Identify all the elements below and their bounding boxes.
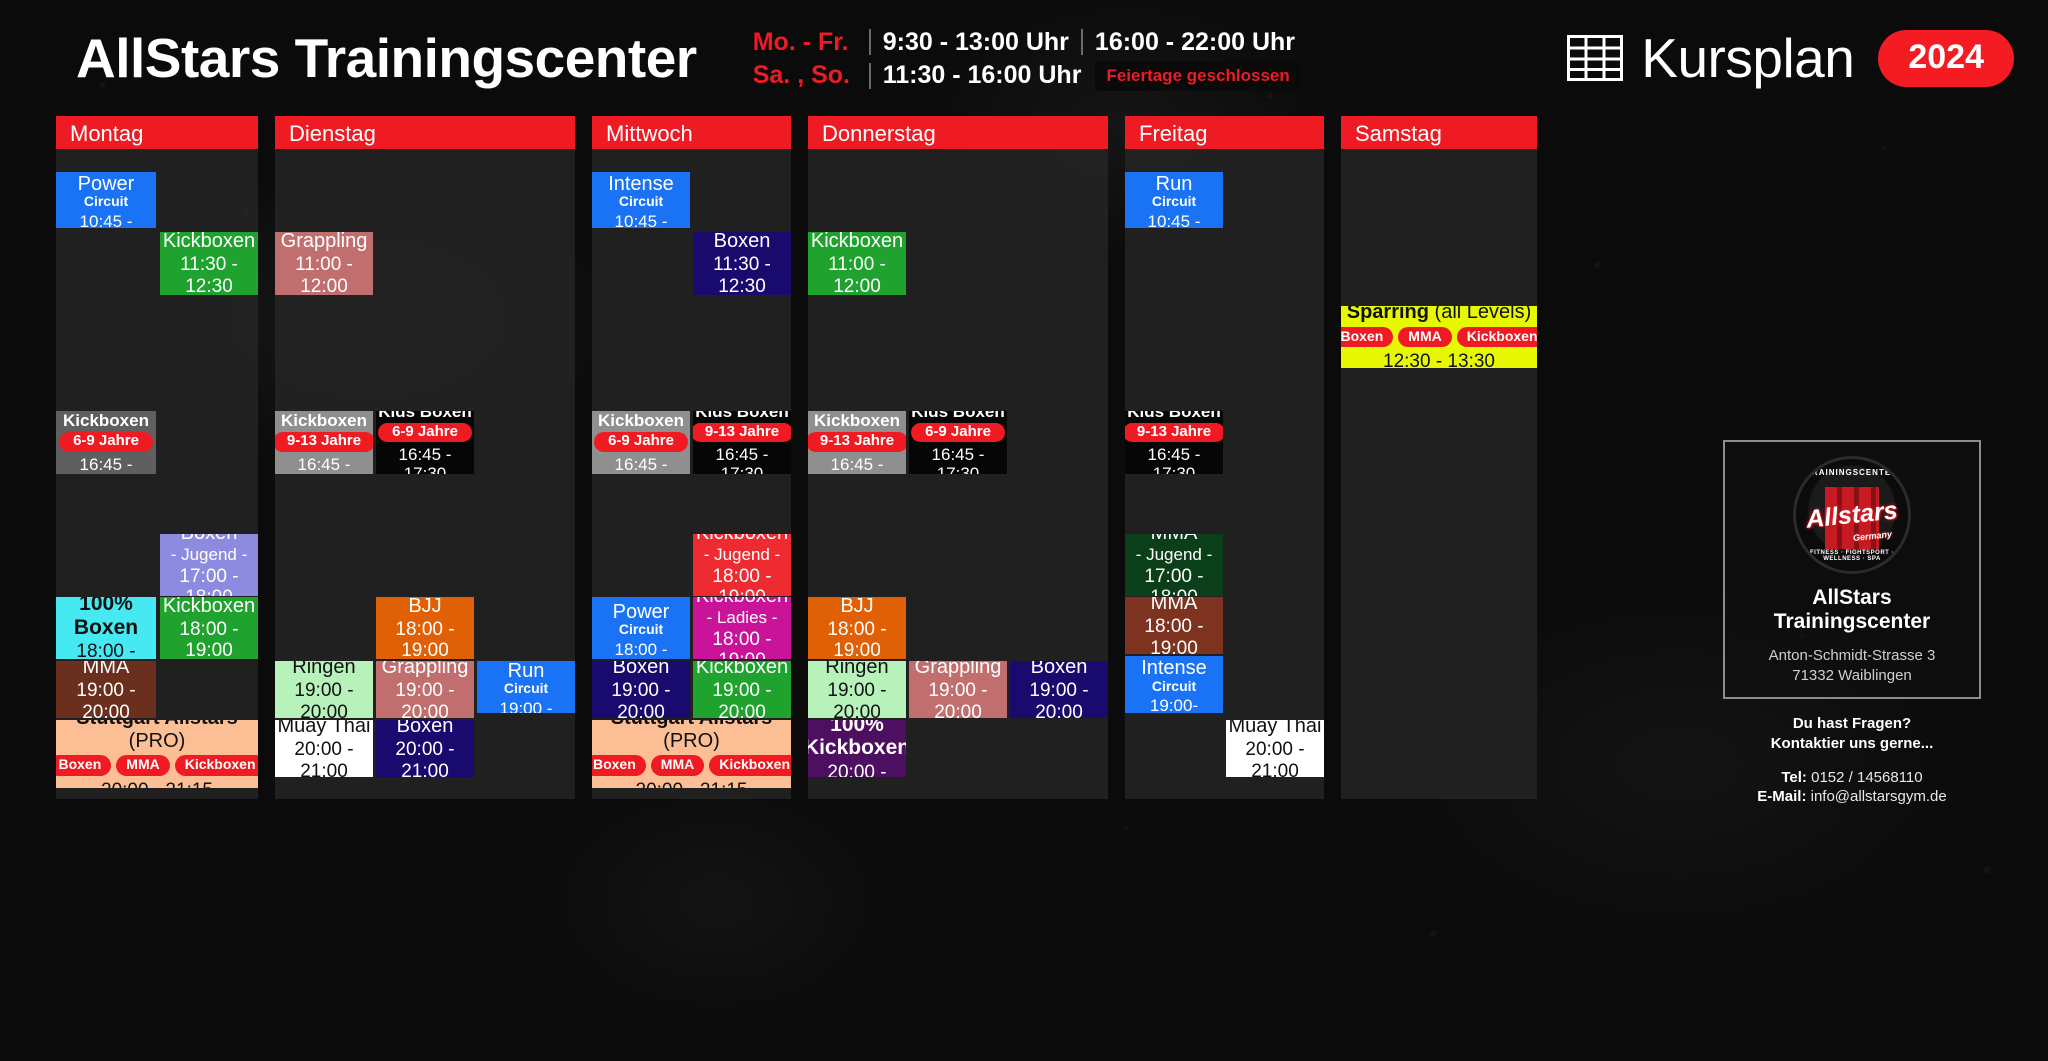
class-discipline-badges: BoxenMMAKickboxen [592,755,791,776]
class-time: 19:00- 19:45 [1127,696,1221,713]
class-card[interactable]: Kickboxen- Jugend -18:00 - 19:00 [693,534,791,596]
gym-address: Anton-Schmidt-Strasse 3 71332 Waiblingen [1769,646,1936,685]
class-time: 10:45 - 11:30 [594,212,688,228]
class-card[interactable]: Boxen- Jugend -17:00 - 18:00 [160,534,258,596]
class-time: 19:00 - 20:00 [58,680,154,718]
class-title: MMA [1151,597,1198,614]
class-time: 16:45 - 17:30 [594,455,688,474]
class-subtitle: - Jugend - [1136,545,1213,564]
class-title: Speed Run [479,661,573,682]
class-title: Stuttgart Allstars (PRO) [594,720,789,752]
class-card[interactable]: Speed RunCircuit19:00 - 19:45 [477,661,575,713]
class-title-paren: (PRO) [663,730,720,752]
age-group-badge: 9-13 Jahre [808,432,906,452]
class-title: Kickboxen [696,661,788,678]
kursplan-poster: AllStars Trainingscenter Mo. - Fr. 9:30 … [0,0,2048,1061]
class-time: 19:00 - 20:00 [1012,680,1106,718]
class-card[interactable]: Kids Boxen6-9 Jahre16:45 - 17:30 [909,411,1007,474]
class-title: Boxen [714,232,771,252]
class-card[interactable]: Total PowerCircuit10:45 - 11:30 [56,172,156,228]
class-title-main: Sparring [1347,306,1429,323]
class-title: BJJ [840,597,873,617]
class-card[interactable]: MMA- Jugend -17:00 - 18:00 [1125,534,1223,596]
discipline-badge: Boxen [1341,327,1393,348]
class-title: 100% Kickboxen [808,720,906,760]
class-title: Boxen [397,720,454,737]
class-title: Ringen [825,661,888,678]
class-subtitle: Circuit [619,622,663,638]
class-subtitle: - Jugend - [171,545,248,564]
class-time: 17:00 - 18:00 [1127,566,1221,596]
class-title: Kickboxen [163,597,255,617]
class-card[interactable]: Grappling11:00 - 12:00 [275,232,373,295]
gym-info-card: TRAININGSCENTER Allstars Germany FITNESS… [1723,440,1981,699]
discipline-badge: MMA [1398,327,1451,348]
age-group-badge: 6-9 Jahre [594,432,688,452]
class-time: 18:00 - 19:00 [695,566,789,596]
day-column-donnerstag: DonnerstagKickboxen11:00 - 12:00Kids Kic… [808,116,1108,799]
class-title: Stuttgart Allstars (PRO) [58,720,256,752]
divider [869,63,871,89]
contact-email-label: E-Mail: [1757,788,1806,805]
class-title-main: Stuttgart Allstars [611,720,773,729]
age-group-badge: 6-9 Jahre [378,423,472,443]
allstars-logo-icon: TRAININGSCENTER Allstars Germany FITNESS… [1793,456,1911,574]
hours-days-label-weekend: Sa. , So. [753,61,857,90]
class-card[interactable]: Muay Thai20:00 - 21:00 [275,720,373,777]
day-body-samstag: Sparring (all Levels)BoxenMMAKickboxen12… [1341,149,1537,799]
class-card[interactable]: MMA18:00 - 19:00 [1125,597,1223,654]
class-title: Kids Kickboxen [58,411,154,430]
class-time: 19:00 - 20:00 [594,680,688,718]
age-group-badge: 9-13 Jahre [693,423,791,443]
class-title-main: Stuttgart Allstars [76,720,238,729]
page-title: AllStars Trainingscenter [76,26,697,90]
class-card[interactable]: Sparring (all Levels)BoxenMMAKickboxen12… [1341,306,1537,368]
contact-email[interactable]: E-Mail: info@allstarsgym.de [1723,788,1981,805]
class-title: Muay Thai [1228,720,1321,737]
day-column-samstag: SamstagSparring (all Levels)BoxenMMAKick… [1341,116,1537,799]
class-card[interactable]: Ringen19:00 - 20:00 [275,661,373,718]
class-title: Ringen [292,661,355,678]
class-card[interactable]: Kids Boxen6-9 Jahre16:45 - 17:30 [376,411,474,474]
age-group-badge: 6-9 Jahre [911,423,1005,443]
class-title: Kids Kickboxen [594,411,688,430]
class-title: Grappling [915,661,1002,678]
class-title-paren: (all Levels) [1429,306,1531,323]
class-card[interactable]: Boxen20:00 - 21:00 [376,720,474,777]
day-header-samstag: Samstag [1341,116,1537,149]
class-time: 20:00 - 21:00 [378,739,472,777]
class-time: 12:30 - 13:30 [1383,351,1495,368]
class-time: 19:00 - 20:00 [695,680,789,718]
class-time: 18:00 - 19:00 [695,629,789,659]
opening-hours: Mo. - Fr. 9:30 - 13:00 Uhr 16:00 - 22:00… [753,28,1301,91]
class-subtitle: Circuit [1152,679,1196,695]
table-grid-icon [1567,35,1623,81]
class-title: Muay Thai [277,720,370,737]
class-time: 20:00 - 21:00 [810,762,904,777]
class-time: 19:00 - 20:00 [911,680,1005,718]
gym-name: AllStars Trainingscenter [1774,586,1930,634]
holiday-note-badge: Feiertage geschlossen [1095,61,1300,91]
class-title: Grappling [281,232,368,252]
class-time: 16:45 - 17:30 [1127,445,1221,474]
class-time: 11:00 - 12:00 [810,254,904,295]
day-body-montag: Total PowerCircuit10:45 - 11:30Kickboxen… [56,149,258,799]
day-body-freitag: Speed RunCircuit10:45 - 11:30Kids Boxen9… [1125,149,1324,799]
day-column-montag: MontagTotal PowerCircuit10:45 - 11:30Kic… [56,116,258,799]
opening-hours-row-weekend: Sa. , So. 11:30 - 16:00 Uhr Feiertage ge… [753,61,1301,91]
kursplan-heading: Kursplan 2024 [1567,26,2014,90]
day-columns: MontagTotal PowerCircuit10:45 - 11:30Kic… [56,116,2014,799]
class-subtitle: Circuit [1152,194,1196,210]
class-title: MMA [83,661,130,678]
class-title: Kids Boxen [378,411,472,421]
class-card[interactable]: Kids Kickboxen9-13 Jahre16:45 - 17:30 [808,411,906,474]
day-column-freitag: FreitagSpeed RunCircuit10:45 - 11:30Kids… [1125,116,1324,799]
hours-days-label-weekday: Mo. - Fr. [753,28,857,57]
kursplan-label: Kursplan [1641,26,1854,90]
class-time: 19:00 - 20:00 [378,680,472,718]
class-title: Kids Boxen [911,411,1005,421]
class-card[interactable]: Kickboxen19:00 - 20:00 [693,661,791,718]
class-title: BJJ [408,597,441,617]
class-title: Kickboxen [696,534,788,544]
class-time: 16:45 - 17:30 [695,445,789,474]
class-card[interactable]: Kickboxen11:00 - 12:00 [808,232,906,295]
class-title: Speed Run [1127,172,1221,195]
discipline-badge: MMA [116,755,169,776]
class-time: 19:00 - 20:00 [810,680,904,718]
day-body-mittwoch: Rough IntenseCircuit10:45 - 11:30Boxen11… [592,149,791,799]
class-card[interactable]: Kids Boxen9-13 Jahre16:45 - 17:30 [693,411,791,474]
class-title: Boxen [613,661,670,678]
hours-slot1-weekday: 9:30 - 13:00 Uhr [883,28,1069,57]
class-card[interactable]: Grappling19:00 - 20:00 [909,661,1007,718]
opening-hours-row-weekday: Mo. - Fr. 9:30 - 13:00 Uhr 16:00 - 22:00… [753,28,1301,57]
class-time: 16:45 - 17:30 [911,445,1005,474]
day-header-mittwoch: Mittwoch [592,116,791,149]
class-time: 11:30 - 12:30 [695,254,789,295]
class-discipline-badges: BoxenMMAKickboxen [1341,327,1537,348]
class-time: 16:45 - 17:30 [378,445,472,474]
class-time: 20:00 - 21:00 [277,739,371,777]
class-time: 16:45 - 17:30 [58,455,154,474]
contact-block: Du hast Fragen? Kontaktier uns gerne... … [1723,714,1981,805]
day-header-montag: Montag [56,116,258,149]
class-discipline-badges: BoxenMMAKickboxen [56,755,258,776]
class-title: MMA [1151,534,1198,544]
contact-question-line1: Du hast Fragen? [1723,714,1981,734]
discipline-badge: MMA [651,755,704,776]
class-title: Rough Intense [594,172,688,195]
class-title: Rough Intense [1127,656,1221,680]
class-card[interactable]: Rough IntenseCircuit19:00- 19:45 [1125,656,1223,713]
class-card[interactable]: MMA19:00 - 20:00 [56,661,156,718]
discipline-badge: Boxen [56,755,111,776]
class-time: 10:45 - 11:30 [58,212,154,228]
logo-ring-bottom-text: FITNESS · FIGHTSPORT · WELLNESS · SPA [1796,550,1908,562]
day-body-donnerstag: Kickboxen11:00 - 12:00Kids Kickboxen9-13… [808,149,1108,799]
gym-name-line2: Trainingscenter [1774,610,1930,634]
class-title-paren: (PRO) [129,730,186,752]
class-title: Boxen [181,534,238,544]
class-subtitle: Circuit [504,681,548,697]
hours-slot1-weekend: 11:30 - 16:00 Uhr [883,61,1082,90]
poster-header: AllStars Trainingscenter Mo. - Fr. 9:30 … [0,0,2048,116]
class-card[interactable]: Stuttgart Allstars (PRO)BoxenMMAKickboxe… [592,720,791,788]
class-title: Total Power [58,172,154,195]
contact-question-line2: Kontaktier uns gerne... [1723,734,1981,754]
class-time: 20:00 - 21:00 [1228,739,1322,777]
class-time: 11:30 - 12:30 [162,254,256,295]
class-time: 19:00 - 20:00 [277,680,371,718]
day-body-dienstag: Grappling11:00 - 12:00Kids Kickboxen9-13… [275,149,575,799]
class-subtitle: - Jugend - [704,545,781,564]
address-line2: 71332 Waiblingen [1769,666,1936,686]
class-time: 20:00 - 21:15 [101,780,213,788]
class-time: 18:00 - 19:00 [162,619,256,659]
gym-name-line1: AllStars [1774,586,1930,610]
divider [1081,29,1083,55]
class-time: 11:00 - 12:00 [277,254,371,295]
year-badge: 2024 [1878,30,2014,87]
class-time: 18:00 - 19:00 [58,641,154,659]
class-title: Boxen [1031,661,1088,678]
class-card[interactable]: Boxen11:30 - 12:30 [693,232,791,295]
contact-email-value: info@allstarsgym.de [1811,788,1947,805]
discipline-badge: Kickboxen [709,755,791,776]
class-title: Kids Boxen [1127,411,1221,421]
class-time: 17:00 - 18:00 [162,566,256,596]
class-time: 18:00 - 19:00 [1127,616,1221,654]
class-card[interactable]: Stuttgart Allstars (PRO)BoxenMMAKickboxe… [56,720,258,788]
address-line1: Anton-Schmidt-Strasse 3 [1769,646,1936,666]
day-header-freitag: Freitag [1125,116,1324,149]
class-card[interactable]: Kickboxen11:30 - 12:30 [160,232,258,295]
day-header-dienstag: Dienstag [275,116,575,149]
class-card[interactable]: Kids Kickboxen9-13 Jahre16:45 - 17:30 [275,411,373,474]
class-card[interactable]: Boxen19:00 - 20:00 [1010,661,1108,718]
age-group-badge: 9-13 Jahre [275,432,373,452]
class-card[interactable]: Speed RunCircuit10:45 - 11:30 [1125,172,1223,228]
age-group-badge: 9-13 Jahre [1125,423,1223,443]
class-subtitle: - Ladies - [707,608,778,627]
logo-wordmark: Allstars [1805,496,1899,534]
class-card[interactable]: Kids Kickboxen6-9 Jahre16:45 - 17:30 [56,411,156,474]
class-title: Kickboxen [811,232,903,252]
class-card[interactable]: Kids Boxen9-13 Jahre16:45 - 17:30 [1125,411,1223,474]
contact-phone-value: 0152 / 14568110 [1811,769,1923,786]
class-card[interactable]: Grappling19:00 - 20:00 [376,661,474,718]
discipline-badge: Kickboxen [1457,327,1537,348]
class-title: Kickboxen [696,597,788,607]
class-time: 19:00 - 19:45 [479,699,573,713]
class-title: Kids Kickboxen [277,411,371,430]
class-title: Grappling [382,661,469,678]
hours-slot2-weekday: 16:00 - 22:00 Uhr [1095,28,1295,57]
class-title: Sparring (all Levels) [1347,306,1532,324]
class-title: Kickboxen [163,232,255,252]
class-card[interactable]: Muay Thai20:00 - 21:00 [1226,720,1324,777]
class-card[interactable]: Kickboxen- Ladies -18:00 - 19:00 [693,597,791,659]
day-column-dienstag: DienstagGrappling11:00 - 12:00Kids Kickb… [275,116,575,799]
class-time: 20:00 - 21:15 [636,780,748,788]
class-title: Total Power [594,597,688,623]
class-time: 18:00 - 19:00 [378,619,472,659]
class-card[interactable]: Rough IntenseCircuit10:45 - 11:30 [592,172,690,228]
day-header-donnerstag: Donnerstag [808,116,1108,149]
class-title: 100% Boxen [58,597,154,639]
class-card[interactable]: Kids Kickboxen6-9 Jahre16:45 - 17:30 [592,411,690,474]
class-time: 16:45 - 17:30 [277,455,371,474]
class-time: 10:45 - 11:30 [1127,212,1221,228]
class-time: 16:45 - 17:30 [810,455,904,474]
class-time: 18:00 - 19:00 [810,619,904,659]
divider [869,29,871,55]
class-time: 18:00 - 18:45 [594,640,688,659]
discipline-badge: Boxen [592,755,646,776]
class-card[interactable]: Ringen19:00 - 20:00 [808,661,906,718]
class-card[interactable]: Kickboxen18:00 - 19:00 [160,597,258,659]
class-card[interactable]: - Basic -100% Boxen18:00 - 19:00 [56,597,156,659]
age-group-badge: 6-9 Jahre [59,432,153,452]
class-card[interactable]: Boxen19:00 - 20:00 [592,661,690,718]
class-title: Kids Kickboxen [810,411,904,430]
class-subtitle: Circuit [619,194,663,210]
contact-phone-label: Tel: [1781,769,1807,786]
class-subtitle: Circuit [84,194,128,210]
class-card[interactable]: BJJ18:00 - 19:00 [376,597,474,659]
class-card[interactable]: Total PowerCircuit18:00 - 18:45 [592,597,690,659]
logo-ring-top-text: TRAININGSCENTER [1796,468,1908,477]
day-column-mittwoch: MittwochRough IntenseCircuit10:45 - 11:3… [592,116,791,799]
discipline-badge: Kickboxen [175,755,258,776]
class-title: Kids Boxen [695,411,789,421]
class-card[interactable]: - Basic -100% Kickboxen20:00 - 21:00 [808,720,906,777]
contact-phone[interactable]: Tel: 0152 / 14568110 [1723,769,1981,786]
class-card[interactable]: BJJ18:00 - 19:00 [808,597,906,659]
